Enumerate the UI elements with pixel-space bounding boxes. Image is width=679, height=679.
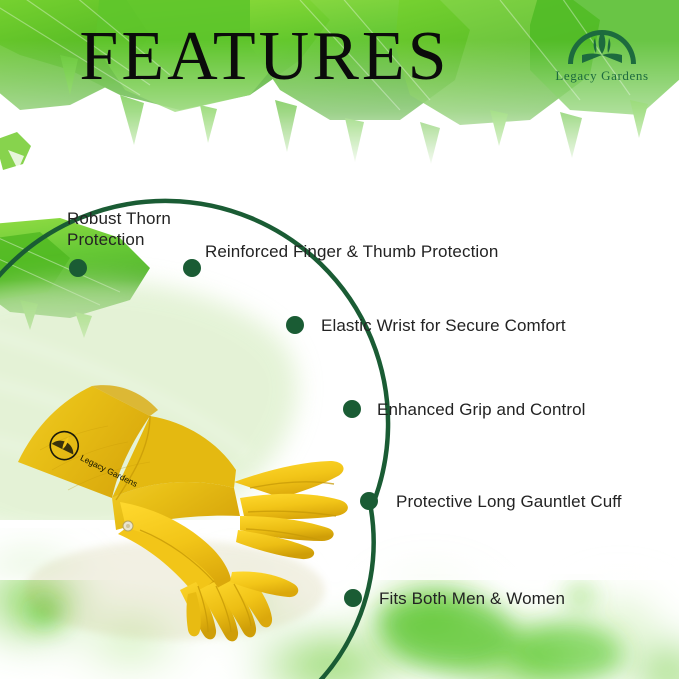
feature-dot-thorn-protection xyxy=(69,259,87,277)
feature-dot-gauntlet-cuff xyxy=(360,492,378,510)
feature-label-gauntlet-cuff: Protective Long Gauntlet Cuff xyxy=(396,491,622,512)
feature-dot-unisex-fit xyxy=(344,589,362,607)
feature-dot-finger-protection xyxy=(183,259,201,277)
feature-label-unisex-fit: Fits Both Men & Women xyxy=(379,588,565,609)
feature-label-thorn-protection: Robust Thorn Protection xyxy=(67,208,171,250)
feature-label-elastic-wrist: Elastic Wrist for Secure Comfort xyxy=(321,315,566,336)
feature-label-enhanced-grip: Enhanced Grip and Control xyxy=(377,399,586,420)
feature-arc xyxy=(0,0,679,679)
feature-dot-elastic-wrist xyxy=(286,316,304,334)
feature-infographic: FEATURES Legacy Gardens xyxy=(0,0,679,679)
feature-label-finger-protection: Reinforced Finger & Thumb Protection xyxy=(205,241,498,262)
feature-dot-enhanced-grip xyxy=(343,400,361,418)
arc-dots xyxy=(69,259,378,607)
